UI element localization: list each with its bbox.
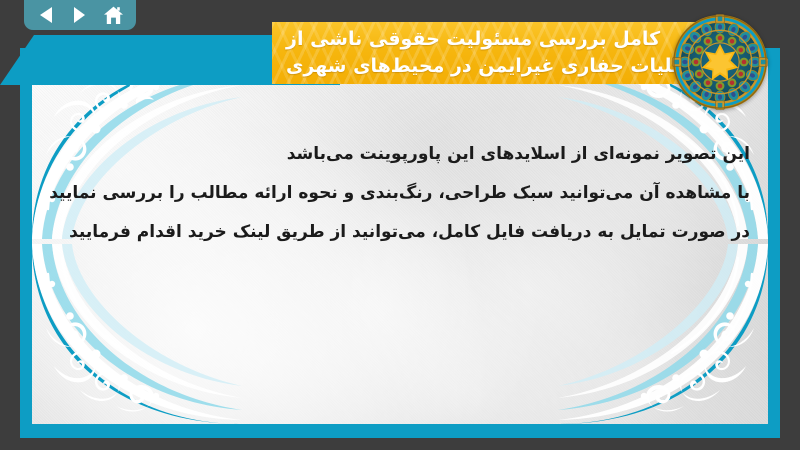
slide-title-line-2: عملیات حفاری غیرایمن در محیط‌های شهری: [286, 53, 698, 80]
triangle-right-icon: [72, 6, 87, 24]
body-line-3: در صورت تمایل به دریافت فایل کامل، می‌تو…: [50, 213, 750, 252]
navigation-bar: [0, 0, 800, 34]
slide-viewer: این تصویر نمونه‌ای از اسلایدهای این پاور…: [0, 0, 800, 450]
triangle-left-icon: [38, 6, 55, 24]
slide-card: این تصویر نمونه‌ای از اسلایدهای این پاور…: [20, 48, 780, 438]
home-button[interactable]: [100, 3, 126, 27]
arabesque-corner-ornament-bottom-right: [558, 244, 768, 424]
slide-body-text: این تصویر نمونه‌ای از اسلایدهای این پاور…: [50, 135, 750, 252]
slide-content-area: این تصویر نمونه‌ای از اسلایدهای این پاور…: [32, 59, 768, 424]
body-line-1: این تصویر نمونه‌ای از اسلایدهای این پاور…: [50, 135, 750, 174]
body-line-2: با مشاهده آن می‌توانید سبک طراحی، رنگ‌بن…: [50, 174, 750, 213]
next-slide-button[interactable]: [67, 3, 93, 27]
arabesque-corner-ornament-bottom-left: [32, 244, 242, 424]
home-icon: [103, 6, 124, 25]
previous-slide-button[interactable]: [34, 3, 60, 27]
nav-button-group: [24, 0, 136, 30]
